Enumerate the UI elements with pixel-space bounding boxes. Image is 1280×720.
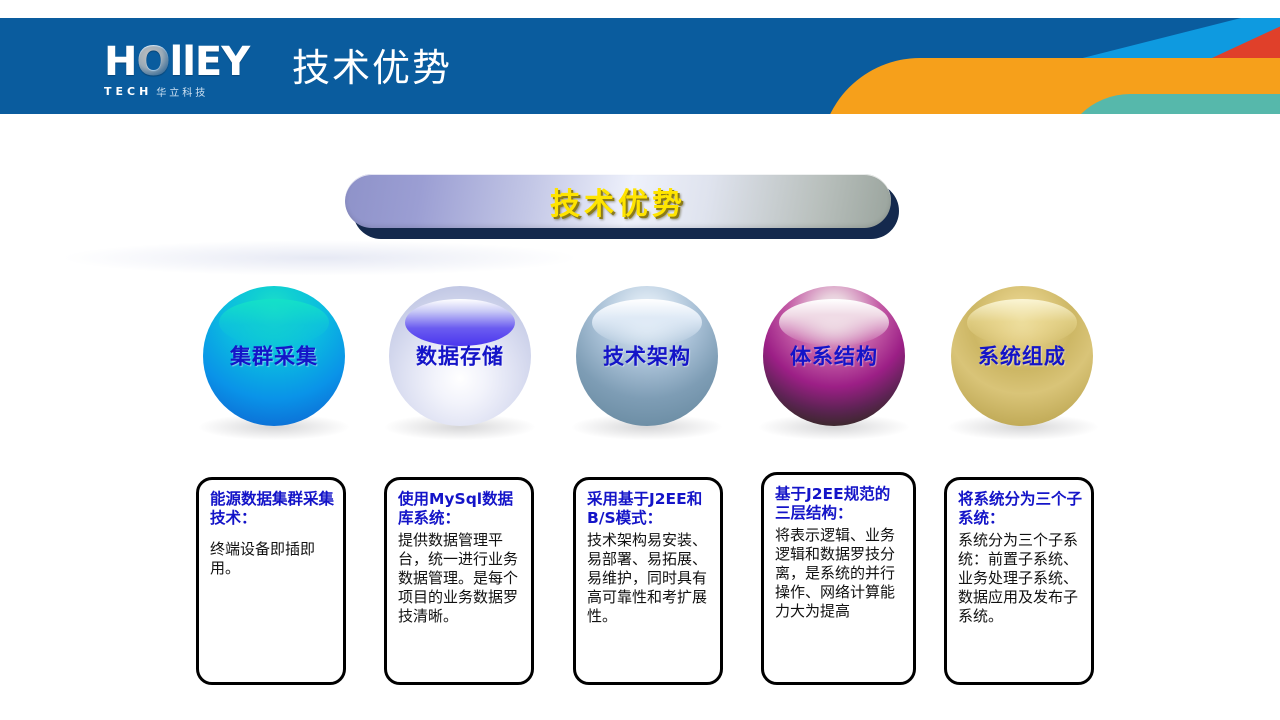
sphere-highlight-cap [779,299,890,347]
slide: HOllEY TECH 华立科技 技术优势 技术优势 集群采集 数据存储 技术架… [0,0,1280,720]
holley-logo: HOllEY TECH 华立科技 [104,42,274,98]
banner-glow [60,240,580,276]
header-bottom-margin [0,114,1280,124]
info-box-data-storage: 使用MySql数据库系统： 提供数据管理平台，统一进行业务数据管理。是每个项目的… [384,477,534,685]
info-box-system-structure: 基于J2EE规范的三层结构： 将表示逻辑、业务逻辑和数据罗技分离，是系统的并行操… [761,472,916,685]
sphere-label: 集群采集 [203,340,345,370]
info-box-body: 提供数据管理平台，统一进行业务数据管理。是每个项目的业务数据罗技清晰。 [398,531,522,626]
banner: 技术优势 [345,174,897,236]
sphere-data-storage[interactable]: 数据存储 [389,286,531,426]
info-box-body: 系统分为三个子系统：前置子系统、业务处理子系统、数据应用及发布子系统。 [958,531,1082,626]
info-box-heading: 能源数据集群采集技术： [210,490,334,528]
sphere-highlight-cap [405,299,516,347]
sphere-label: 系统组成 [951,340,1093,370]
logo-letter-h: H [104,39,136,85]
sphere-cluster-collection[interactable]: 集群采集 [203,286,345,426]
info-box-heading: 采用基于J2EE和B/S模式： [587,490,711,528]
sphere-highlight-cap [219,299,330,347]
sphere-tech-architecture[interactable]: 技术架构 [576,286,718,426]
info-box-system-composition: 将系统分为三个子系统： 系统分为三个子系统：前置子系统、业务处理子系统、数据应用… [944,477,1094,685]
page-title: 技术优势 [292,46,452,90]
info-box-tech-architecture: 采用基于J2EE和B/S模式： 技术架构易安装、易部署、易拓展、易维护，同时具有… [573,477,723,685]
info-box-body: 将表示逻辑、业务逻辑和数据罗技分离，是系统的并行操作、网络计算能力大为提高 [775,526,904,621]
info-box-heading: 基于J2EE规范的三层结构： [775,485,904,523]
sphere-highlight-cap [592,299,703,347]
sphere-system-composition[interactable]: 系统组成 [951,286,1093,426]
info-box-body: 终端设备即插即用。 [210,540,334,578]
banner-title: 技术优势 [550,179,686,223]
sphere-highlight-cap [967,299,1078,347]
info-box-heading: 将系统分为三个子系统： [958,490,1082,528]
info-box-cluster-collection: 能源数据集群采集技术： 终端设备即插即用。 [196,477,346,685]
banner-pill: 技术优势 [345,174,891,228]
logo-tech-text: TECH [104,85,152,98]
logo-letter-o: O [136,39,169,85]
sphere-label: 数据存储 [389,340,531,370]
logo-wordmark: HOllEY [104,42,274,82]
logo-chinese-text: 华立科技 [156,84,208,99]
sphere-label: 技术架构 [576,340,718,370]
header-top-margin [0,0,1280,18]
sphere-system-structure[interactable]: 体系结构 [763,286,905,426]
logo-letters-rest: llEY [170,39,250,85]
info-box-body: 技术架构易安装、易部署、易拓展、易维护，同时具有高可靠性和考扩展性。 [587,531,711,626]
logo-subtitle: TECH 华立科技 [104,84,274,99]
info-box-heading: 使用MySql数据库系统： [398,490,522,528]
sphere-label: 体系结构 [763,340,905,370]
